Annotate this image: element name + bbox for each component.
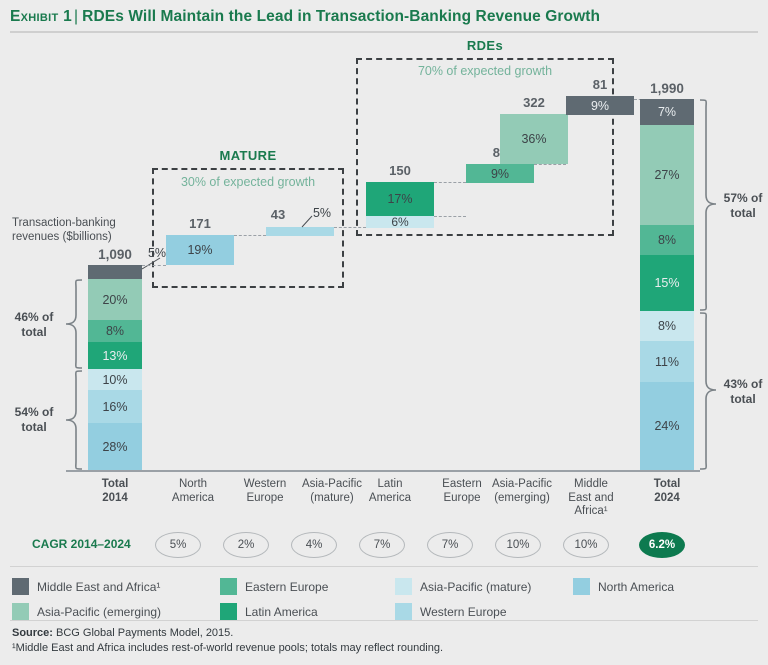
bar-2024-latin-america-label: 15% xyxy=(654,276,679,290)
bar-2024-seg-apac-mature: 8% xyxy=(640,311,694,341)
legend-item-apac-emerging[interactable]: Asia-Pacific (emerging) xyxy=(12,603,161,620)
bar-2014-seg-apac-emerging: 20% xyxy=(88,279,142,320)
legend-label-latin-america: Latin America xyxy=(245,605,318,619)
mature-group-title: MATURE xyxy=(152,148,344,163)
step-apac-emerging: 36% xyxy=(500,114,568,164)
axis-label-total-2014: Total 2014 xyxy=(78,478,152,505)
legend-item-apac-mature[interactable]: Asia-Pacific (mature) xyxy=(395,578,531,595)
brace-2024-rde-label: 57% of total xyxy=(718,191,768,220)
bar-2014-latin-america-label: 13% xyxy=(102,349,127,363)
brace-2024-mature-line1: 43% of xyxy=(718,377,768,392)
bar-2024-western-europe-label: 11% xyxy=(655,355,679,369)
bar-2014-seg-eastern-europe: 8% xyxy=(88,320,142,342)
axis-label-north-america: North America xyxy=(153,478,233,505)
rdes-group-title: RDEs xyxy=(356,38,614,53)
connector-north-america-to-western-europe xyxy=(234,235,266,236)
step-apac-mature-share: 6% xyxy=(391,215,408,229)
legend-label-apac-emerging: Asia-Pacific (emerging) xyxy=(37,605,161,619)
rdes-group-subtitle: 70% of expected growth xyxy=(356,64,614,78)
step-apac-emerging-share: 36% xyxy=(521,132,546,146)
legend-swatch-latin-america xyxy=(220,603,237,620)
bar-2014-apac-mature-label: 10% xyxy=(102,373,127,387)
cagr-pill-western-europe[interactable]: 2% xyxy=(223,532,269,558)
bar-2014-seg-apac-mature: 10% xyxy=(88,369,142,390)
bar-2024-seg-western-europe: 11% xyxy=(640,341,694,382)
step-north-america: 19% xyxy=(166,235,234,265)
cagr-pill-apac-emerging[interactable]: 10% xyxy=(495,532,541,558)
footer-divider xyxy=(10,620,758,621)
bar-2024-apac-emerging-label: 27% xyxy=(654,168,679,182)
step-north-america-value: 171 xyxy=(164,216,236,231)
total-2024-value: 1,990 xyxy=(628,81,706,96)
step-mea-share: 9% xyxy=(591,99,609,113)
legend-swatch-apac-emerging xyxy=(12,603,29,620)
source-label: Source: xyxy=(12,627,53,639)
cagr-pill-mea[interactable]: 10% xyxy=(563,532,609,558)
legend-item-eastern-europe[interactable]: Eastern Europe xyxy=(220,578,328,595)
cagr-pill-eastern-europe[interactable]: 7% xyxy=(427,532,473,558)
bar-2014-seg-north-america: 28% xyxy=(88,423,142,470)
source-text: BCG Global Payments Model, 2015. xyxy=(56,627,233,639)
step-mea-value: 81 xyxy=(566,77,634,92)
legend-label-eastern-europe: Eastern Europe xyxy=(245,580,328,594)
legend-label-western-europe: Western Europe xyxy=(420,605,507,619)
brace-2024-mature-label: 43% of total xyxy=(718,377,768,406)
brace-2024-mature-line2: total xyxy=(718,392,768,407)
brace-2024-rde-line2: total xyxy=(718,206,768,221)
legend-swatch-mea xyxy=(12,578,29,595)
cagr-pill-latin-america[interactable]: 7% xyxy=(359,532,405,558)
bar-2024-north-america-label: 24% xyxy=(654,419,679,433)
step-apac-mature: 6% xyxy=(366,216,434,228)
legend-label-mea: Middle East and Africa¹ xyxy=(37,580,160,594)
source-line: Source: BCG Global Payments Model, 2015. xyxy=(12,626,443,641)
brace-2014-mature-line1: 54% of xyxy=(6,405,62,420)
brace-2014-rde-line2: total xyxy=(6,325,62,340)
axis-label-latin-america: Latin America xyxy=(352,478,428,505)
legend-swatch-north-america xyxy=(573,578,590,595)
exhibit-root: Exhibit 1|RDEs Will Maintain the Lead in… xyxy=(0,0,768,665)
cagr-pill-total[interactable]: 6.2% xyxy=(639,532,685,558)
bar-2024-seg-eastern-europe: 8% xyxy=(640,225,694,255)
legend-swatch-eastern-europe xyxy=(220,578,237,595)
legend-item-mea[interactable]: Middle East and Africa¹ xyxy=(12,578,160,595)
brace-2024-rde-line1: 57% of xyxy=(718,191,768,206)
bar-2014-north-america-label: 28% xyxy=(102,440,127,454)
bar-2014-seg-western-europe: 16% xyxy=(88,390,142,423)
x-axis-baseline xyxy=(66,470,700,472)
legend-swatch-western-europe xyxy=(395,603,412,620)
axis-label-mea: Middle East and Africa¹ xyxy=(556,478,626,519)
bar-2014-apac-emerging-label: 20% xyxy=(102,293,127,307)
step-latin-america: 17% xyxy=(366,182,434,216)
legend-item-western-europe[interactable]: Western Europe xyxy=(395,603,507,620)
step-apac-emerging-value: 322 xyxy=(498,95,570,110)
bar-2024-seg-apac-emerging: 27% xyxy=(640,125,694,225)
mature-group-subtitle: 30% of expected growth xyxy=(152,175,344,189)
legend-item-north-america[interactable]: North America xyxy=(573,578,674,595)
cagr-row-title: CAGR 2014–2024 xyxy=(32,537,131,551)
connector-apac-mature-to-latin-america xyxy=(434,216,466,217)
y-axis-note-line2: revenues ($billions) xyxy=(12,230,132,244)
connector-eastern-europe-to-apac-emerging xyxy=(534,164,566,165)
cagr-pill-apac-mature[interactable]: 4% xyxy=(291,532,337,558)
step-latin-america-value: 150 xyxy=(366,163,434,178)
step-latin-america-share: 17% xyxy=(387,192,412,206)
source-block: Source: BCG Global Payments Model, 2015.… xyxy=(12,626,443,656)
brace-2014-mature-line2: total xyxy=(6,420,62,435)
bar-2024-seg-mea: 7% xyxy=(640,99,694,125)
cagr-pill-north-america[interactable]: 5% xyxy=(155,532,201,558)
brace-2014-mature xyxy=(60,370,84,470)
step-eastern-europe: 9% xyxy=(466,164,534,183)
y-axis-note-line1: Transaction-banking xyxy=(12,216,132,230)
legend-swatch-apac-mature xyxy=(395,578,412,595)
brace-2014-rde xyxy=(60,279,84,369)
bar-2014-seg-latin-america: 13% xyxy=(88,342,142,369)
bar-2014-seg-mea xyxy=(88,265,142,279)
legend-item-latin-america[interactable]: Latin America xyxy=(220,603,318,620)
brace-2014-mature-label: 54% of total xyxy=(6,405,62,434)
legend-divider-top xyxy=(10,566,758,567)
step-north-america-share: 19% xyxy=(187,243,212,257)
brace-2014-rde-label: 46% of total xyxy=(6,310,62,339)
connector-latin-america-to-eastern-europe xyxy=(434,182,466,183)
step-mea: 9% xyxy=(566,96,634,115)
brace-2014-rde-line1: 46% of xyxy=(6,310,62,325)
y-axis-note: Transaction-banking revenues ($billions) xyxy=(12,216,132,244)
legend-label-north-america: North America xyxy=(598,580,674,594)
step-western-europe-leader-line xyxy=(296,216,318,230)
bar-2014-western-europe-label: 16% xyxy=(102,400,127,414)
bar-2024-seg-latin-america: 15% xyxy=(640,255,694,311)
bar-2024-apac-mature-label: 8% xyxy=(658,319,676,333)
bar-2014-eastern-europe-label: 8% xyxy=(106,324,124,338)
bar-2024-mea-label: 7% xyxy=(658,105,676,119)
connector-western-europe-to-apac-mature xyxy=(334,227,366,228)
footnote-line: ¹Middle East and Africa includes rest-of… xyxy=(12,641,443,656)
bar-2024-seg-north-america: 24% xyxy=(640,382,694,470)
connector-2014-to-north-america xyxy=(142,265,166,266)
step-eastern-europe-share: 9% xyxy=(491,167,509,181)
bar-2024-eastern-europe-label: 8% xyxy=(658,233,676,247)
legend-label-apac-mature: Asia-Pacific (mature) xyxy=(420,580,531,594)
axis-label-total-2024: Total 2024 xyxy=(630,478,704,505)
